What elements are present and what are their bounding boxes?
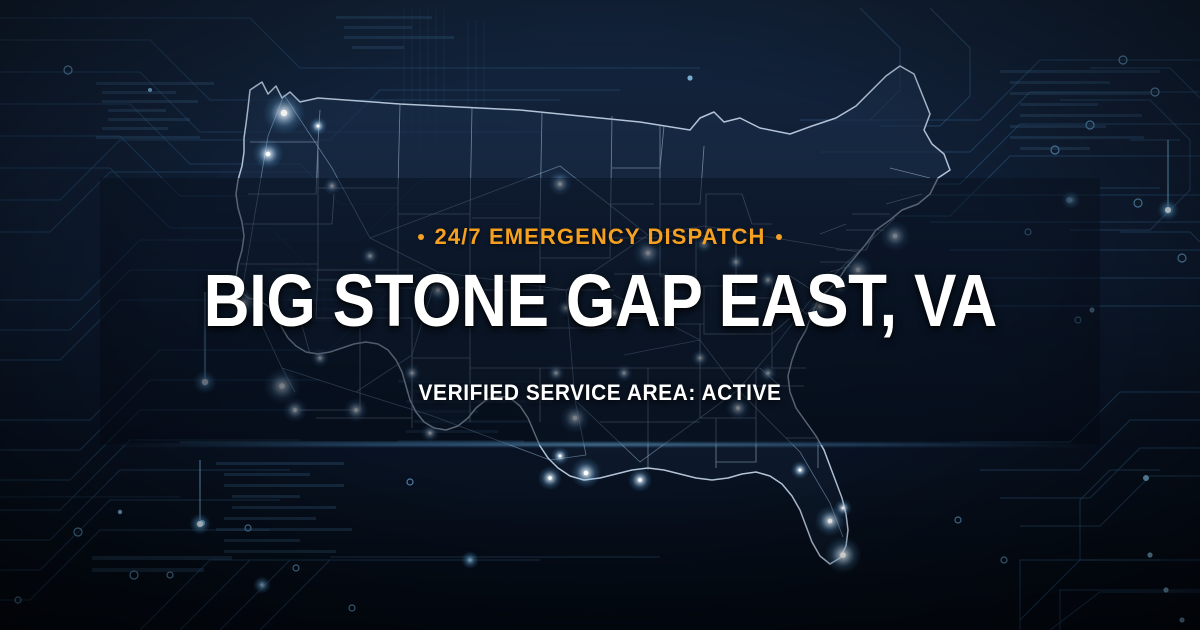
eyebrow-banner: 24/7 EMERGENCY DISPATCH — [418, 224, 783, 250]
page-title: BIG STONE GAP EAST, VA — [203, 264, 996, 337]
status-badge: VERIFIED SERVICE AREA: ACTIVE — [419, 380, 782, 406]
service-area-hero: 24/7 EMERGENCY DISPATCH BIG STONE GAP EA… — [0, 0, 1200, 630]
bullet-dot-left-icon — [418, 234, 424, 240]
bullet-dot-right-icon — [776, 234, 782, 240]
eyebrow-label: 24/7 EMERGENCY DISPATCH — [435, 224, 766, 250]
hero-copy: 24/7 EMERGENCY DISPATCH BIG STONE GAP EA… — [0, 0, 1200, 630]
